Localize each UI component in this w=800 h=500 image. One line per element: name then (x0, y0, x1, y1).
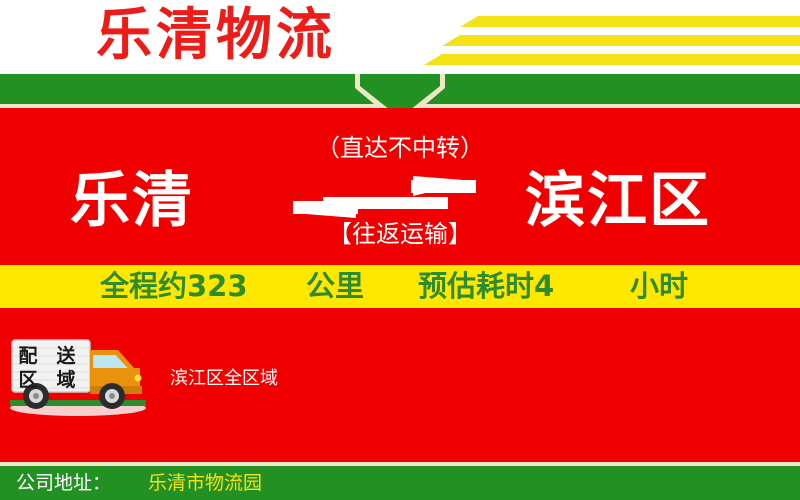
svg-text:域: 域 (56, 368, 75, 391)
stripe-3 (424, 54, 800, 65)
company-address-label: 公司地址： (16, 466, 111, 500)
route-info-band: 全程约323 公里 预估耗时4 小时 (0, 265, 800, 308)
logistics-banner: 乐清物流 （直达不中转） 乐清 滨江区 【往返运输】 全程约323 公里 预估耗… (0, 0, 800, 500)
double-arrow-icon (293, 176, 476, 218)
coverage-area-text: 滨江区全区域 (170, 367, 278, 391)
svg-text:区: 区 (18, 369, 37, 391)
distance-unit: 公里 (306, 265, 364, 308)
svg-text:配: 配 (18, 345, 37, 367)
origin-city: 乐清 (70, 165, 194, 237)
footer-red-accent (0, 455, 800, 462)
footer-bar: 公司地址： 乐清市物流园 (0, 466, 800, 500)
duration-value: 预估耗时4 (418, 265, 554, 308)
banner-header: 乐清物流 (0, 0, 800, 74)
direct-shipping-note: （直达不中转） (290, 133, 510, 163)
delivery-truck-icon: 配 送 区 域 (6, 328, 156, 418)
distance-value: 全程约323 (100, 265, 248, 308)
svg-text:送: 送 (56, 344, 76, 367)
duration-unit: 小时 (630, 265, 688, 308)
destination-city: 滨江区 (525, 165, 711, 237)
stripe-1 (460, 16, 800, 27)
stripe-2 (442, 35, 800, 46)
round-trip-note: 【往返运输】 (290, 219, 510, 249)
brand-title: 乐清物流 (96, 2, 336, 70)
decorative-stripes (400, 14, 800, 66)
company-address-value: 乐清市物流园 (148, 466, 262, 500)
